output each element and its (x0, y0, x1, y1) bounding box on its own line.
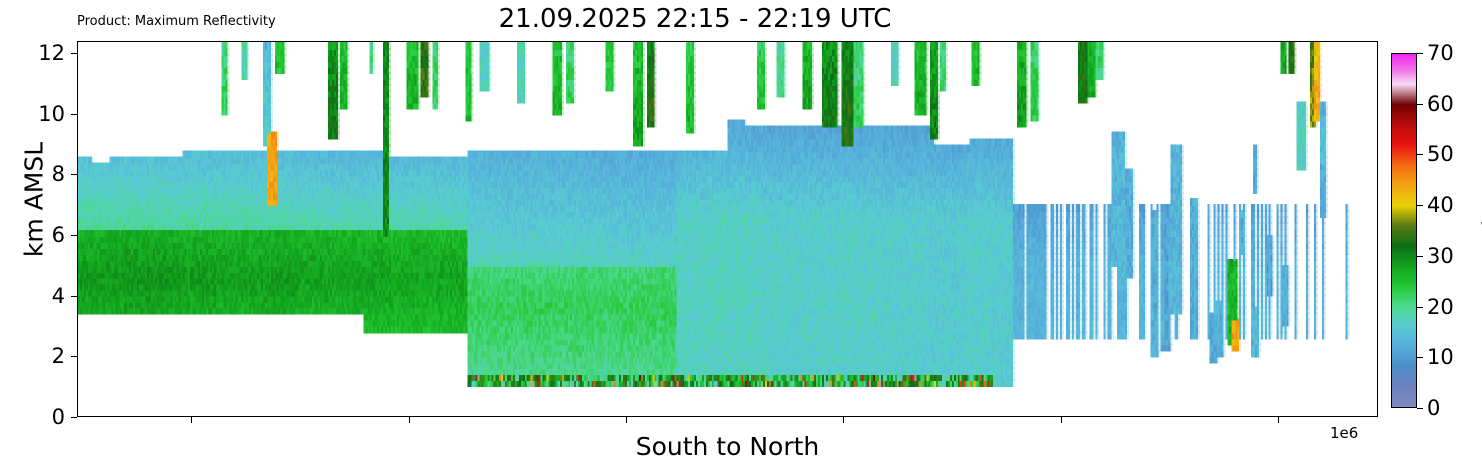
y-tick-label: 4 (52, 284, 65, 308)
colorbar-tick-label: 20 (1427, 295, 1454, 319)
colorbar-tick-mark (1417, 53, 1423, 54)
colorbar-label: dBZ (1478, 151, 1482, 271)
y-tick-mark (71, 417, 77, 418)
x-tick-mark (1278, 417, 1279, 423)
x-axis-label: South to North (77, 432, 1378, 461)
y-tick-label: 12 (38, 41, 65, 65)
y-tick-mark (71, 53, 77, 54)
colorbar-tick-mark (1417, 408, 1423, 409)
colorbar-gradient-overlay (1392, 54, 1416, 407)
colorbar-tick-mark (1417, 205, 1423, 206)
product-annotation: Product: Maximum Reflectivity (77, 14, 276, 29)
y-tick-label: 6 (52, 223, 65, 247)
y-tick-label: 2 (52, 344, 65, 368)
y-axis-label: km AMSL (20, 70, 49, 330)
reflectivity-heatmap (78, 42, 1377, 416)
colorbar-tick-label: 60 (1427, 92, 1454, 116)
colorbar-tick-label: 70 (1427, 41, 1454, 65)
colorbar-tick-label: 30 (1427, 244, 1454, 268)
reflectivity-canvas (78, 42, 1377, 416)
x-tick-mark (409, 417, 410, 423)
x-tick-mark (843, 417, 844, 423)
colorbar-tick-label: 10 (1427, 345, 1454, 369)
y-tick-mark (71, 296, 77, 297)
x-tick-mark (626, 417, 627, 423)
colorbar-tick-label: 0 (1427, 396, 1440, 420)
y-tick-mark (71, 174, 77, 175)
colorbar-tick-mark (1417, 154, 1423, 155)
x-tick-mark (1061, 417, 1062, 423)
y-tick-label: 0 (52, 405, 65, 429)
colorbar-tick-mark (1417, 357, 1423, 358)
y-tick-mark (71, 235, 77, 236)
x-tick-mark (191, 417, 192, 423)
y-tick-mark (71, 114, 77, 115)
colorbar-tick-mark (1417, 104, 1423, 105)
colorbar-tick-mark (1417, 256, 1423, 257)
y-tick-label: 8 (52, 162, 65, 186)
radar-cross-section-figure: 21.09.2025 22:15 - 22:19 UTC Product: Ma… (0, 0, 1482, 470)
colorbar-tick-mark (1417, 307, 1423, 308)
colorbar: 010203040506070 (1391, 53, 1417, 408)
colorbar-tick-label: 40 (1427, 193, 1454, 217)
y-tick-mark (71, 356, 77, 357)
colorbar-gradient (1391, 53, 1417, 408)
colorbar-tick-label: 50 (1427, 142, 1454, 166)
plot-axes (77, 41, 1378, 417)
